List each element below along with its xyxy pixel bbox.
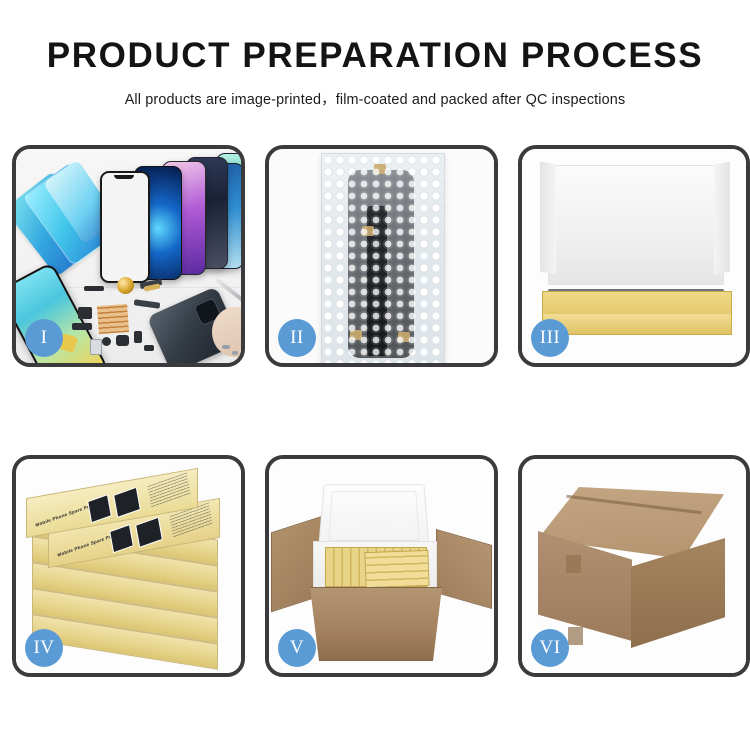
screw-1: [222, 345, 230, 349]
step-panel-1[interactable]: I: [12, 145, 245, 367]
spare-part-sim-tray: [134, 331, 142, 343]
packed-retail-boxes-right: [364, 550, 429, 588]
sealing-tape-upper: [566, 555, 581, 573]
step-panel-4[interactable]: Mobile Phone Spare Parts Mobile Phone Sp…: [12, 455, 245, 677]
sealing-tape-lower: [568, 627, 583, 645]
step-panel-2[interactable]: II: [265, 145, 498, 367]
spare-part-button: [102, 337, 111, 346]
phone-screen-1: [100, 171, 150, 283]
gold-tab-mid: [362, 226, 374, 236]
step-badge-2: II: [278, 319, 316, 357]
retail-box-product-image-2a: [109, 524, 134, 553]
step-badge-4: IV: [25, 629, 63, 667]
spare-part-strip-2: [72, 323, 92, 330]
white-inner-lid: [548, 165, 724, 285]
gold-tab-bottom-right: [398, 332, 410, 342]
step-badge-6: VI: [531, 629, 569, 667]
copper-shield-disc: [117, 277, 134, 294]
step-panel-6[interactable]: VI: [518, 455, 750, 677]
kraft-box-tray: [542, 291, 732, 335]
spare-part-camera-module: [90, 339, 102, 355]
bubble-wrap-bag: [321, 153, 445, 363]
step-badge-5: V: [278, 629, 316, 667]
page-header: PRODUCT PREPARATION PROCESS All products…: [0, 0, 750, 109]
spare-part-speaker: [116, 335, 129, 346]
retail-box-product-image-1a: [87, 494, 112, 523]
spare-part-bracket-1: [78, 307, 92, 319]
retail-box-product-image-1b: [113, 487, 141, 518]
page-title: PRODUCT PREPARATION PROCESS: [0, 38, 750, 75]
gold-tab-top: [374, 164, 386, 174]
spare-part-strip-1: [84, 286, 104, 291]
lid-flap-left: [540, 162, 556, 275]
foam-insert-lid: [318, 484, 430, 549]
process-steps-grid: I II III: [12, 145, 750, 677]
step-panel-5[interactable]: V: [265, 455, 498, 677]
carton-front-panel: [301, 587, 451, 661]
step-badge-1: I: [25, 319, 63, 357]
spare-part-strip-3: [144, 345, 154, 351]
copper-mesh-pad: [97, 304, 129, 334]
screw-2: [232, 351, 238, 355]
gold-tab-bottom-left: [350, 330, 362, 340]
step-panel-3[interactable]: III: [518, 145, 750, 367]
retail-box-spec-text-1: [147, 473, 190, 508]
lid-flap-right: [714, 162, 730, 275]
kraft-box-front-face: [543, 314, 731, 334]
page-subtitle: All products are image-printed，film-coat…: [0, 88, 750, 109]
step-badge-3: III: [531, 319, 569, 357]
retail-box-product-image-2b: [135, 517, 163, 548]
